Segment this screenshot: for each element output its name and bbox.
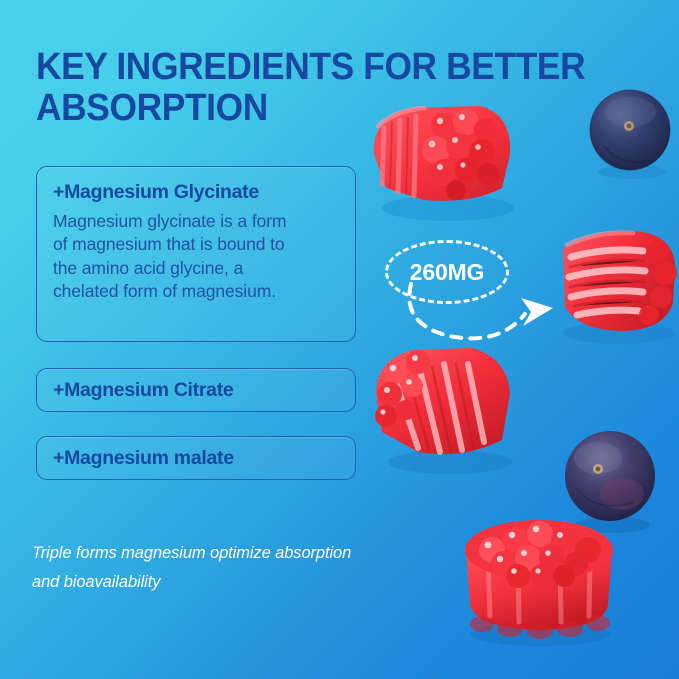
- ingredient-title-citrate: +Magnesium Citrate: [53, 379, 233, 402]
- gummy-bottom: [448, 500, 628, 646]
- ingredient-card-glycinate: +Magnesium Glycinate Magnesium glycinate…: [36, 166, 356, 342]
- product-infographic: KEY INGREDIENTS FOR BETTER ABSORPTION +M…: [0, 0, 679, 679]
- footnote-text: Triple forms magnesium optimize absorpti…: [32, 539, 432, 597]
- berry-top-right: [588, 88, 672, 180]
- ingredient-title-glycinate: +Magnesium Glycinate: [53, 181, 339, 204]
- gummy-right: [545, 215, 679, 345]
- gummy-middle: [362, 338, 532, 474]
- dosage-callout-value: 260MG: [410, 259, 484, 286]
- ingredient-description-glycinate: Magnesium glycinate is a form of magnesi…: [53, 210, 339, 303]
- ingredient-title-malate: +Magnesium malate: [53, 447, 234, 470]
- ingredient-card-malate: +Magnesium malate: [36, 436, 356, 480]
- dosage-callout-badge: 260MG: [385, 240, 509, 304]
- ingredient-card-citrate: +Magnesium Citrate: [36, 368, 356, 412]
- page-title: KEY INGREDIENTS FOR BETTER ABSORPTION: [36, 47, 594, 129]
